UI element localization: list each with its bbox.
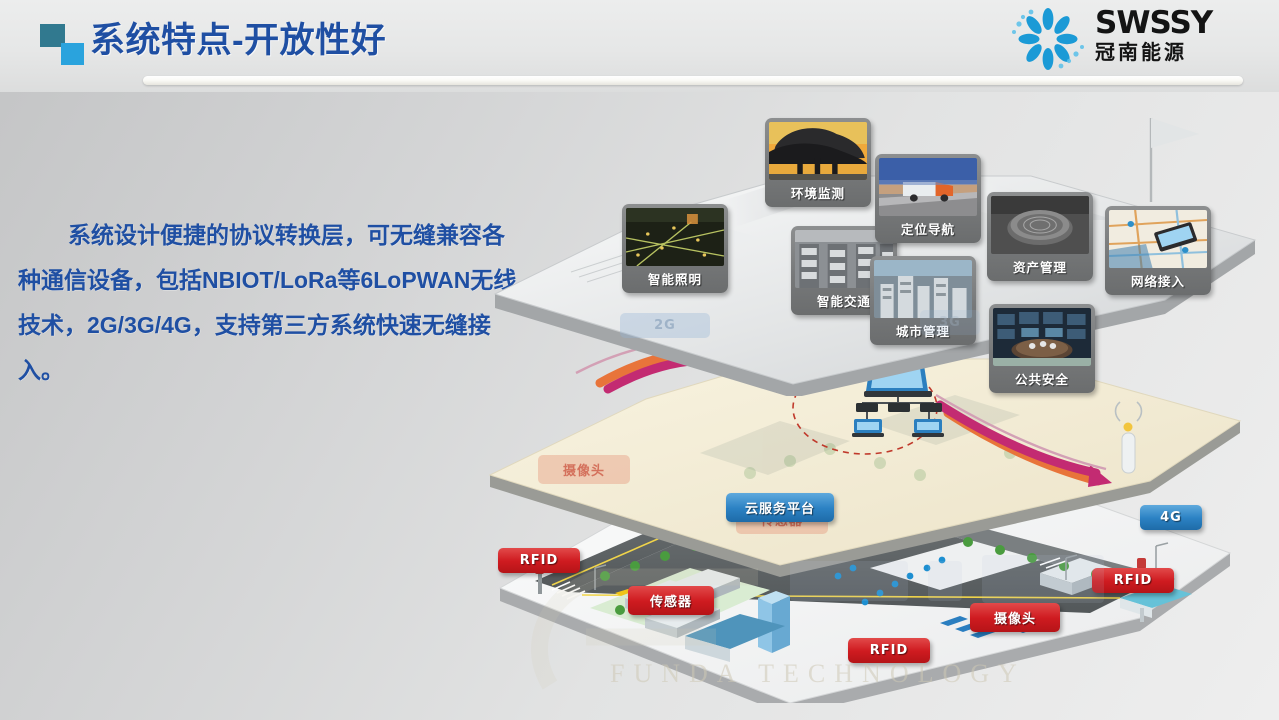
badge-4g[interactable]: 4G <box>1140 505 1202 530</box>
logo-subtitle: 冠南能源 <box>1095 40 1212 66</box>
square-bullet-icon <box>40 24 86 66</box>
iot-architecture-illustration: RFID 传感器 RFID RFID 摄像头 <box>440 88 1270 703</box>
city-night-lights-thumb <box>626 208 724 266</box>
app-card-label: 资产管理 <box>991 254 1089 279</box>
app-card-smart-lighting[interactable]: 智能照明 <box>622 204 728 293</box>
app-card-public-safety[interactable]: 公共安全 <box>989 304 1095 393</box>
badge-3g: 3G <box>920 310 980 335</box>
swssy-petal-logo-icon <box>1007 6 1089 72</box>
badge-camera-right[interactable]: 摄像头 <box>970 603 1060 632</box>
map-device-thumb <box>1109 210 1207 268</box>
company-logo: SWSSY 冠南能源 <box>1007 4 1265 74</box>
logo-wordmark: SWSSY <box>1095 6 1212 40</box>
badge-rfid-bottom[interactable]: RFID <box>848 638 930 663</box>
app-card-network-access[interactable]: 网络接入 <box>1105 206 1211 295</box>
manhole-cover-thumb <box>991 196 1089 254</box>
badge-camera-ghost: 摄像头 <box>538 455 630 484</box>
app-card-asset-management[interactable]: 资产管理 <box>987 192 1093 281</box>
title-underline <box>143 76 1243 85</box>
app-card-positioning-navigation[interactable]: 定位导航 <box>875 154 981 243</box>
layer-applications: 智能照明 环境监测 <box>475 96 1265 396</box>
badge-2g: 2G <box>620 313 710 338</box>
badge-cloud-platform[interactable]: 云服务平台 <box>726 493 834 522</box>
app-card-label: 网络接入 <box>1109 268 1207 293</box>
app-card-label: 智能照明 <box>626 266 724 291</box>
truck-highway-thumb <box>879 158 977 216</box>
bullet-square-light <box>61 43 84 65</box>
page-title: 系统特点-开放性好 <box>90 12 386 63</box>
control-room-thumb <box>993 308 1091 366</box>
app-card-label: 定位导航 <box>879 216 977 241</box>
app-card-environment-monitoring[interactable]: 环境监测 <box>765 118 871 207</box>
slide-header: 系统特点-开放性好 <box>0 0 1279 92</box>
app-card-label: 公共安全 <box>993 366 1091 391</box>
app-card-label: 环境监测 <box>769 180 867 205</box>
smokestack-pollution-thumb <box>769 122 867 180</box>
logo-text-block: SWSSY 冠南能源 <box>1095 6 1212 66</box>
